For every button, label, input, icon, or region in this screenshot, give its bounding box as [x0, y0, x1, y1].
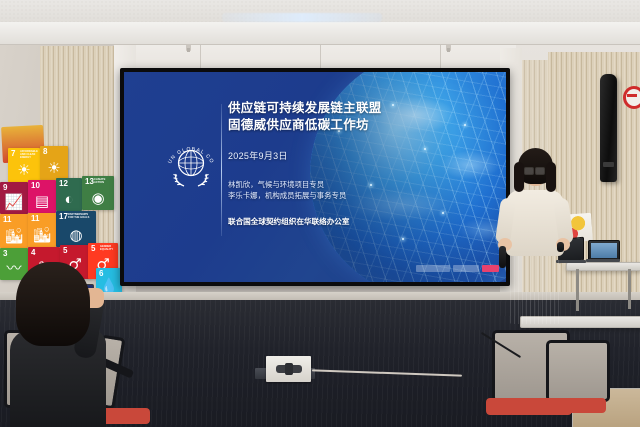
sdg-number: 13	[85, 178, 94, 186]
presenter-hair-right	[546, 162, 556, 192]
presenter-skirt	[510, 250, 560, 324]
sdg-number: 17	[59, 213, 68, 221]
sdg-number: 3	[3, 250, 7, 258]
wall-speaker	[600, 74, 617, 182]
equality-icon: ▤	[35, 194, 49, 209]
slide-speaker-2: 李乐卡娜，机构成员拓展与事务专员	[228, 190, 418, 201]
globe-node-dot	[464, 124, 466, 126]
sdg-number: 5	[91, 245, 95, 253]
table-leg	[576, 269, 579, 311]
sdg-label: GENDER EQUALITY	[100, 245, 116, 251]
sdg-number: 11	[3, 216, 11, 224]
chair-back	[546, 340, 610, 402]
ceiling-light-fixture	[222, 13, 382, 22]
microphone	[499, 246, 506, 268]
sdg-number: 7	[11, 150, 15, 158]
sdg-block: 8 ☀	[40, 146, 68, 180]
sdg-block: 12 ◐	[56, 178, 82, 211]
growth-icon: 📈	[5, 195, 24, 210]
sdg-number: 11	[31, 215, 39, 223]
leaf-icon: ◐	[64, 192, 73, 207]
ungc-logo-svg: UN GLOBAL COMPACT	[162, 134, 220, 192]
slide-accent-line	[221, 104, 222, 236]
sdg-block: 11 🏙	[0, 214, 28, 248]
ceiling-sprinkler-icon	[186, 44, 191, 51]
presentation-screen[interactable]: UN GLOBAL COMPACT 供应链可持续发展链主联盟 固德威供应商低碳工…	[124, 72, 506, 282]
laptop-base	[586, 259, 620, 262]
photo-scene: 7 AFFORDABLE AND CLEAN ENERGY ☀ 8 ☀ 9 📈 …	[0, 0, 640, 427]
presenter	[498, 146, 574, 336]
sdg-block: 7 AFFORDABLE AND CLEAN ENERGY ☀	[8, 148, 40, 182]
sdg-number: 5	[63, 247, 67, 255]
slide-title-line2: 固德威供应商低碳工作坊	[228, 117, 418, 134]
presenter-hair-left	[514, 162, 524, 192]
slide-title: 供应链可持续发展链主联盟 固德威供应商低碳工作坊	[228, 100, 418, 133]
sdg-block: 11 🏙	[28, 213, 56, 247]
microphone-secondary	[557, 242, 564, 252]
sdg-label: PARTNERSHIPS FOR THE GOALS	[68, 213, 94, 219]
glasses-right-lens-icon	[535, 167, 545, 175]
sun-icon: ☀	[47, 161, 60, 176]
svg-text:UN GLOBAL COMPACT: UN GLOBAL COMPACT	[162, 134, 215, 165]
sdg-label: CLIMATE ACTION	[94, 178, 112, 184]
slide-title-line1: 供应链可持续发展链主联盟	[228, 100, 418, 117]
office-chair	[540, 340, 610, 427]
slide-date: 2025年9月3日	[228, 149, 418, 162]
sdg-block: 10 ▤	[28, 180, 56, 213]
city-icon: 🏙	[32, 228, 51, 243]
sdg-block: 17 PARTNERSHIPS FOR THE GOALS ◍	[56, 211, 96, 247]
sdg-block: 13 CLIMATE ACTION ◉	[82, 176, 114, 210]
slide-text-block: 供应链可持续发展链主联盟 固德威供应商低碳工作坊 2025年9月3日 林凯欣，气…	[228, 100, 418, 227]
climate-eye-icon: ◉	[91, 191, 104, 206]
wall-sign-icon	[623, 86, 640, 109]
toolbar-badge[interactable]	[482, 265, 499, 272]
sdg-block: 9 📈	[0, 182, 28, 214]
sdg-number: 12	[59, 180, 68, 188]
sdg-number: 8	[43, 148, 47, 156]
sdg-label: AFFORDABLE AND CLEAN ENERGY	[20, 150, 38, 160]
seated-audience-member	[6, 262, 134, 427]
partnership-icon: ◍	[69, 228, 82, 243]
slide-organization: 联合国全球契约组织在华联络办公室	[228, 216, 418, 227]
ceiling-beam	[0, 22, 640, 45]
sdg-number: 10	[31, 182, 40, 190]
slide-speaker-1: 林凯欣，气候与环境项目专员	[228, 179, 418, 190]
floor-power-outlet	[266, 356, 311, 382]
slide-mini-toolbar[interactable]	[416, 265, 502, 272]
chair-seat	[540, 398, 606, 413]
globe-node-dot	[402, 238, 404, 240]
toolbar-pill-playback[interactable]	[416, 265, 450, 272]
sdg-number: 9	[3, 184, 7, 192]
city-icon: 🏙	[4, 229, 23, 244]
table-leg	[628, 269, 631, 309]
sun-icon: ☀	[17, 163, 30, 178]
slide-speakers: 林凯欣，气候与环境项目专员 李乐卡娜，机构成员拓展与事务专员	[228, 179, 418, 202]
seated-person-hair	[16, 262, 90, 346]
laptop-screen	[591, 243, 617, 258]
sdg-number: 4	[31, 249, 35, 257]
globe-node-dot	[442, 212, 444, 214]
globe-node-dot	[424, 148, 426, 150]
laptop-lid	[588, 240, 620, 261]
ceiling-sprinkler-icon	[446, 44, 451, 51]
un-global-compact-logo: UN GLOBAL COMPACT	[162, 134, 220, 192]
outlet-slot-icon	[276, 365, 302, 373]
toolbar-pill-controls[interactable]	[453, 265, 479, 272]
glasses-left-lens-icon	[524, 167, 534, 175]
laptop	[588, 240, 618, 264]
